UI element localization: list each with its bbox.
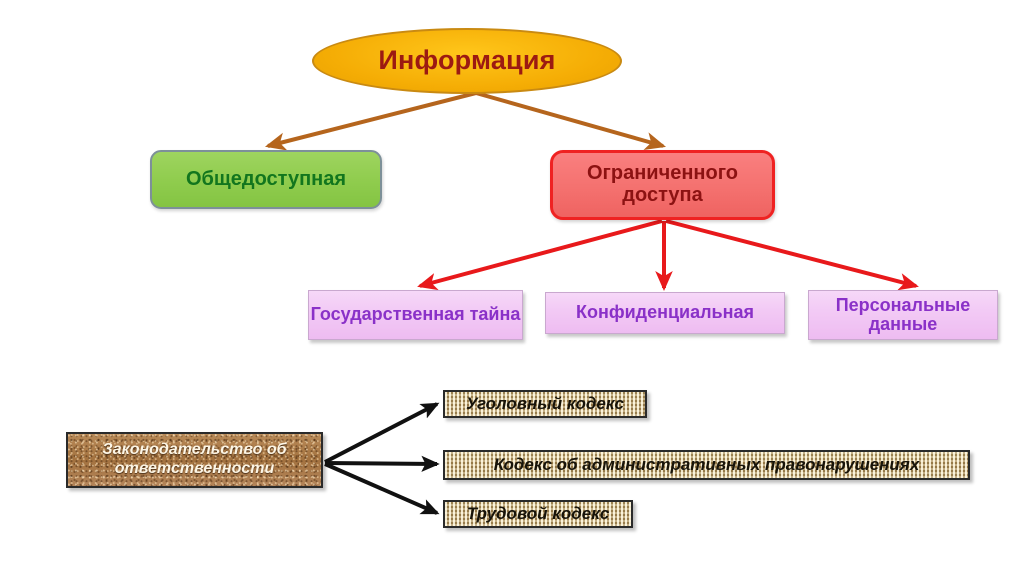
arrow-root-to-restricted [476,93,663,146]
arrow-restricted-to-personal-data [666,221,916,286]
node-state-secret[interactable]: Государственная тайна [308,290,523,340]
node-administrative-offences-code[interactable]: Кодекс об административных правонарушени… [443,450,970,480]
arrow-legislation-to-criminal-code [325,404,437,462]
diagram-canvas: Информация Общедоступная Ограниченного д… [0,0,1024,573]
node-confidential[interactable]: Конфиденциальная [545,292,785,334]
node-restricted-access[interactable]: Ограниченного доступа [550,150,775,220]
node-liability-legislation[interactable]: Законодательство об ответственности [66,432,323,488]
node-personal-data[interactable]: Персональные данные [808,290,998,340]
node-labour-code[interactable]: Трудовой кодекс [443,500,633,528]
arrow-root-to-public [268,93,476,146]
arrow-legislation-to-admin-code [325,463,437,464]
arrow-restricted-to-state-secret [420,221,662,286]
node-criminal-code[interactable]: Уголовный кодекс [443,390,647,418]
arrow-legislation-to-labour-code [325,464,437,513]
node-information-root[interactable]: Информация [312,28,622,94]
node-public-information[interactable]: Общедоступная [150,150,382,209]
